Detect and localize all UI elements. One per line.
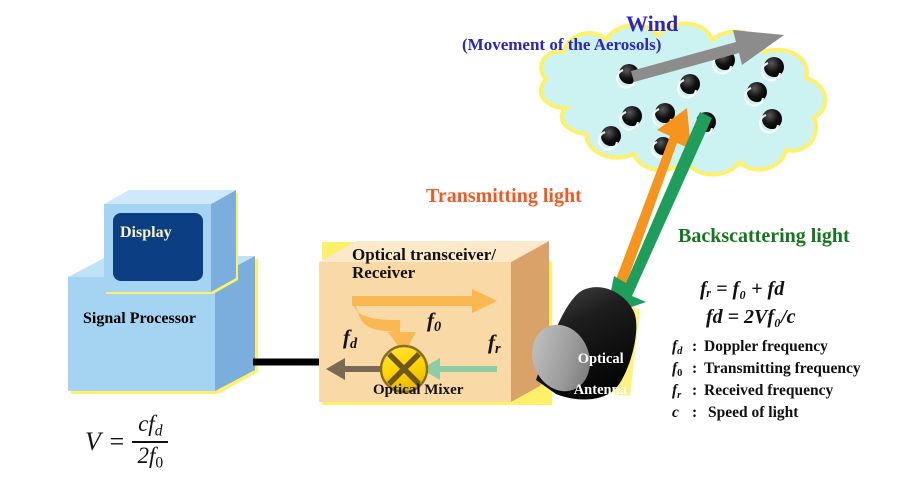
velocity-equals: =	[108, 427, 126, 457]
f0-signal-label: f0	[427, 309, 441, 335]
definition-colon: :	[692, 360, 704, 378]
definition-symbol: fd	[672, 338, 692, 357]
backscattering-light-label: Backscattering light	[678, 226, 850, 247]
definition-row: fd : Doppler frequency	[672, 338, 861, 357]
velocity-fraction: cfd 2f0	[132, 412, 168, 472]
lidar-diagram: Wind (Movement of the Aerosols) Transmit…	[0, 0, 914, 498]
display-label: Display	[120, 225, 172, 242]
fd-signal-label: fd	[343, 326, 357, 352]
definition-text: Speed of light	[704, 404, 798, 422]
definition-colon: :	[692, 404, 704, 422]
definition-row: c : Speed of light	[672, 404, 861, 422]
velocity-equation: V = cfd 2f0	[85, 412, 168, 472]
velocity-lhs: V	[85, 427, 101, 457]
optical-antenna-label: Optical Antenna	[560, 337, 627, 413]
definition-symbol: f0	[672, 360, 692, 379]
definition-row: f0 : Transmitting frequency	[672, 360, 861, 379]
definition-text: Transmitting frequency	[704, 360, 861, 378]
velocity-denominator: 2f0	[132, 443, 168, 472]
f0-symbol: f	[427, 308, 434, 332]
signal-processor-label: Signal Processor	[83, 311, 196, 328]
definition-row: fr : Received frequency	[672, 382, 861, 401]
fr-symbol: f	[488, 330, 495, 354]
transmitting-light-label: Transmitting light	[426, 186, 582, 207]
fr-equation: fᵣ = f₀ + fd	[700, 278, 784, 301]
definition-text: Doppler frequency	[704, 338, 828, 356]
fr-subscript: r	[495, 341, 501, 357]
symbol-definitions: fd : Doppler frequency f0 : Transmitting…	[672, 338, 861, 425]
f0-subscript: 0	[434, 319, 441, 335]
fd-subscript: d	[350, 336, 357, 352]
definition-symbol: fr	[672, 382, 692, 401]
antenna-label-line2: Antenna	[574, 382, 627, 398]
wind-title: Wind	[626, 12, 678, 35]
wind-subtitle: (Movement of the Aerosols)	[462, 36, 661, 54]
definition-colon: :	[692, 338, 704, 356]
fd-symbol: f	[343, 325, 350, 349]
optical-mixer-label: Optical Mixer	[373, 383, 463, 399]
fd-equation: fd = 2Vf₀/c	[706, 306, 795, 329]
velocity-numerator: cfd	[133, 412, 167, 441]
antenna-label-line1: Optical	[578, 351, 624, 367]
fr-signal-label: fr	[488, 331, 501, 357]
definition-text: Received frequency	[704, 382, 833, 400]
definition-symbol: c	[672, 404, 692, 422]
display-monitor	[104, 190, 238, 294]
definition-colon: :	[692, 382, 704, 400]
optical-transceiver-label: Optical transceiver/ Receiver	[352, 246, 496, 282]
